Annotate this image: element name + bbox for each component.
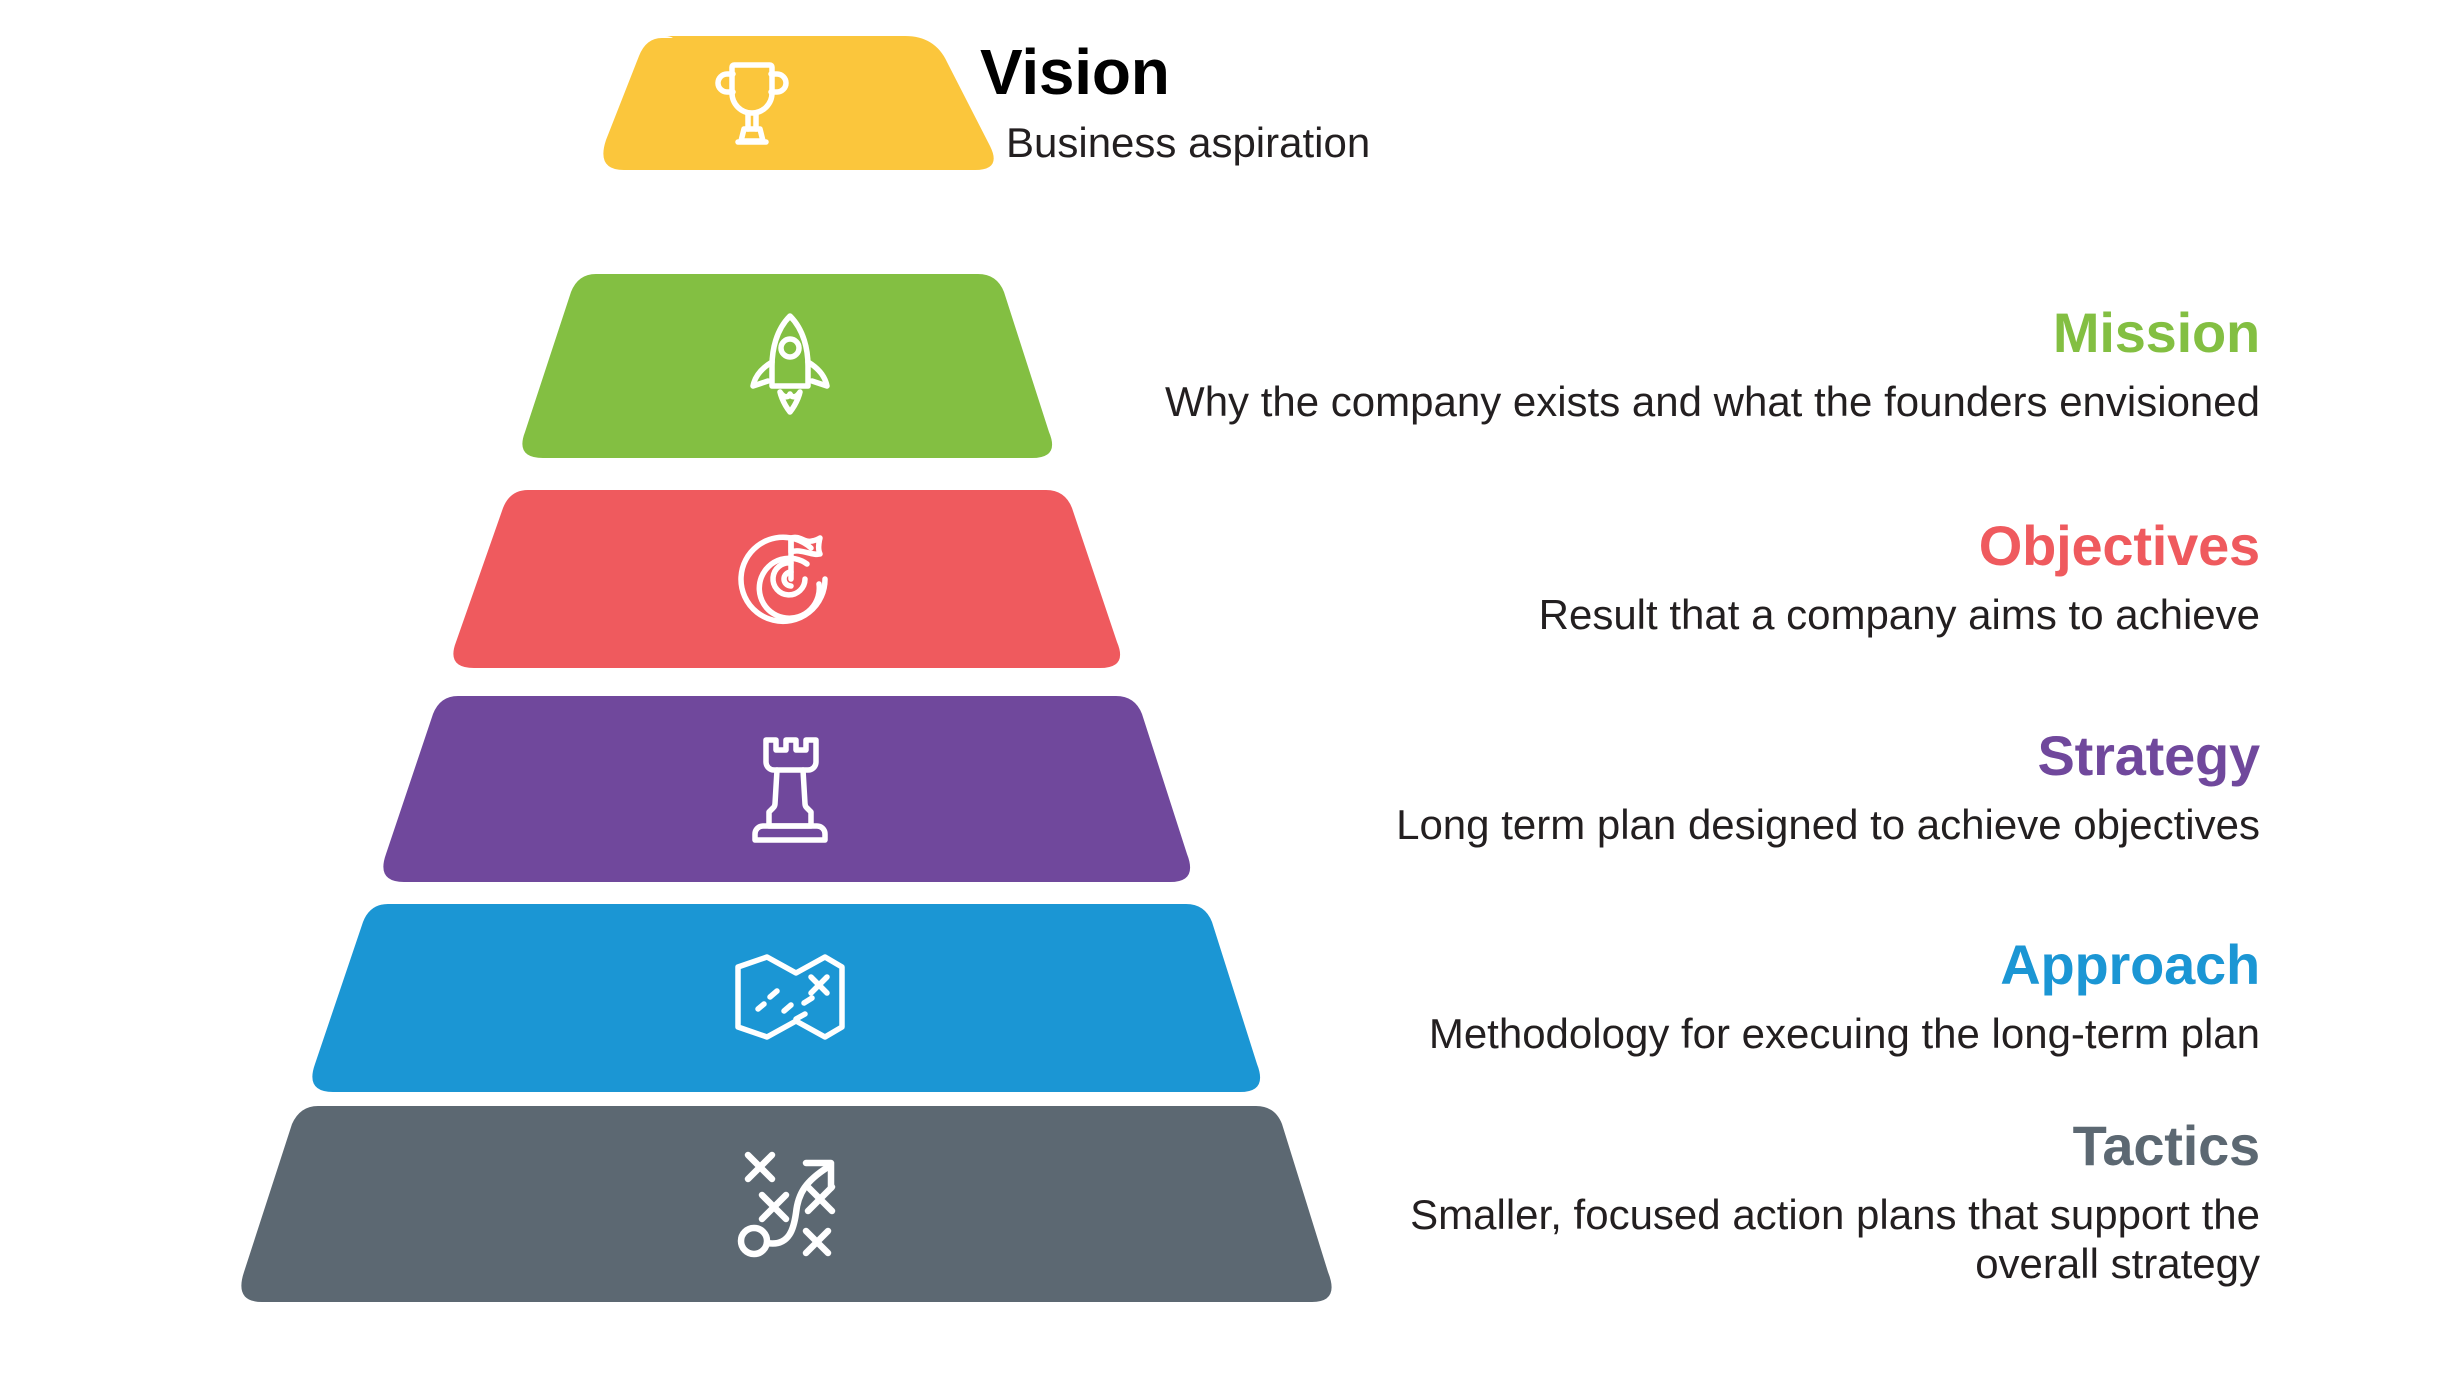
tactics-description: Smaller, focused action plans that suppo…	[1380, 1190, 2260, 1289]
mission-title: Mission	[2053, 304, 2260, 363]
pyramid-level-objectives[interactable]: Objectives Result that a company aims to…	[0, 488, 2462, 668]
vision-description: Business aspiration	[1006, 118, 1370, 168]
pyramid-level-strategy[interactable]: Strategy Long term plan designed to achi…	[0, 694, 2462, 882]
vision-trapezoid-main	[603, 38, 971, 170]
approach-band-shape	[0, 902, 1470, 1092]
tactics-text-block: Tactics Smaller, focused action plans th…	[1360, 1104, 2260, 1302]
strategy-description: Long term plan designed to achieve objec…	[1396, 800, 2260, 850]
pyramid-level-mission[interactable]: Mission Why the company exists and what …	[0, 272, 2462, 458]
approach-title: Approach	[2000, 936, 2260, 995]
tactics-title: Tactics	[2073, 1117, 2260, 1176]
strategy-trapezoid	[383, 696, 1190, 882]
objectives-title: Objectives	[1979, 517, 2260, 576]
pyramid-level-vision[interactable]: Vision Business aspiration	[0, 36, 2462, 170]
pyramid-level-approach[interactable]: Approach Methodology for execuing the lo…	[0, 902, 2462, 1092]
strategy-text-block: Strategy Long term plan designed to achi…	[1210, 694, 2260, 882]
vision-title: Vision	[980, 39, 1170, 106]
tactics-band-shape	[0, 1104, 1470, 1302]
mission-description: Why the company exists and what the foun…	[1165, 377, 2260, 427]
strategy-pyramid-diagram: Vision Business aspiration Mission Why t…	[0, 0, 2462, 1385]
mission-trapezoid	[522, 274, 1052, 458]
approach-text-block: Approach Methodology for execuing the lo…	[1280, 902, 2260, 1092]
objectives-trapezoid	[453, 490, 1120, 668]
strategy-title: Strategy	[2038, 727, 2260, 786]
approach-trapezoid	[312, 904, 1260, 1092]
objectives-description: Result that a company aims to achieve	[1539, 590, 2260, 640]
objectives-text-block: Objectives Result that a company aims to…	[1140, 488, 2260, 668]
tactics-trapezoid	[241, 1106, 1331, 1302]
vision-text-block: Vision Business aspiration	[980, 36, 2240, 170]
mission-text-block: Mission Why the company exists and what …	[1070, 272, 2260, 458]
pyramid-level-tactics[interactable]: Tactics Smaller, focused action plans th…	[0, 1104, 2462, 1302]
approach-description: Methodology for execuing the long-term p…	[1429, 1009, 2260, 1059]
